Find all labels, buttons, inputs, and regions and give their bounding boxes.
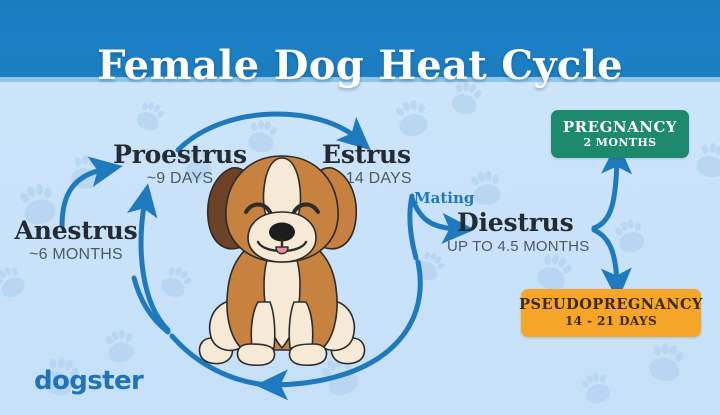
mating-label: Mating	[414, 189, 474, 207]
dogster-logo[interactable]: dogster	[34, 366, 143, 396]
stage-anestrus: Anestrus ~6 MONTHS	[2, 218, 150, 264]
pseudopregnancy-duration: 14 - 21 DAYS	[565, 315, 657, 328]
pregnancy-duration: 2 MONTHS	[583, 137, 656, 149]
pseudopregnancy-badge: PSEUDOPREGNANCY 14 - 21 DAYS	[521, 289, 701, 337]
pregnancy-badge: PREGNANCY 2 MONTHS	[551, 110, 689, 158]
stage-anestrus-name: Anestrus	[2, 218, 150, 244]
infographic-canvas: Female Dog Heat Cycle	[0, 0, 720, 415]
stage-diestrus: Diestrus UP TO 4.5 MONTHS	[443, 210, 625, 255]
dog-illustration	[196, 152, 368, 374]
pregnancy-title: PREGNANCY	[563, 119, 677, 136]
stage-anestrus-duration: ~6 MONTHS	[2, 246, 150, 264]
pseudopregnancy-title: PSEUDOPREGNANCY	[519, 297, 703, 313]
stage-diestrus-name: Diestrus	[443, 210, 625, 236]
stage-diestrus-duration: UP TO 4.5 MONTHS	[443, 238, 625, 255]
